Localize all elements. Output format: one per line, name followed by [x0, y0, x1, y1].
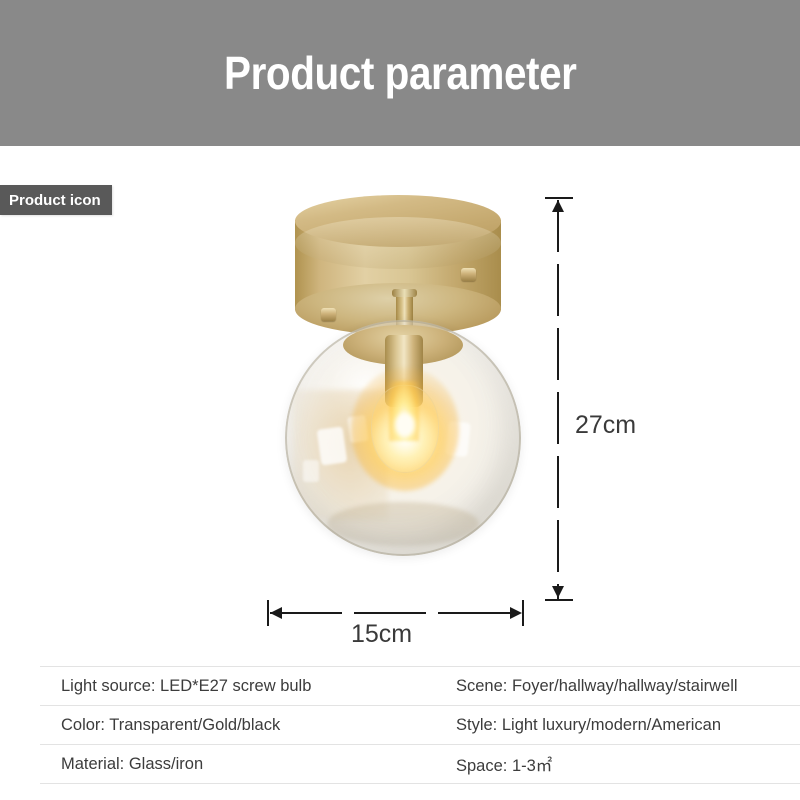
ceiling-lamp-illustration: [285, 195, 525, 650]
height-dimension-cap-top: [545, 197, 573, 199]
page-title: Product parameter: [224, 46, 576, 100]
lamp-stem-collar: [392, 289, 417, 297]
width-dimension-arrow-right: [510, 607, 522, 619]
canopy-screw-left: [321, 308, 336, 321]
spec-row: Light source: LED*E27 screw bulb Scene: …: [40, 666, 800, 705]
spec-color: Color: Transparent/Gold/black: [40, 706, 438, 744]
canopy-screw-right: [461, 268, 476, 281]
height-dimension-line: [557, 200, 559, 599]
spec-style: Style: Light luxury/modern/American: [438, 706, 800, 744]
width-dimension-cap-left: [267, 600, 269, 626]
spec-row: Color: Transparent/Gold/black Style: Lig…: [40, 705, 800, 744]
width-dimension-cap-right: [522, 600, 524, 626]
canopy-rim: [295, 217, 501, 269]
height-dimension-arrow-bottom: [552, 586, 564, 598]
width-dimension-label: 15cm: [351, 620, 412, 649]
spec-row: Material: Glass/iron Space: 1-3㎡: [40, 744, 800, 784]
bulb-filament-core: [395, 413, 415, 437]
width-dimension-line: [270, 612, 522, 614]
width-dimension-arrow-left: [270, 607, 282, 619]
height-dimension-label: 27cm: [575, 411, 636, 440]
height-dimension-arrow-top: [552, 200, 564, 212]
height-dimension-cap-bottom: [545, 599, 573, 601]
header-banner: Product parameter: [0, 0, 800, 146]
spec-table: Light source: LED*E27 screw bulb Scene: …: [40, 666, 800, 784]
spec-material: Material: Glass/iron: [40, 745, 438, 783]
spec-space: Space: 1-3㎡: [438, 745, 800, 783]
spec-scene: Scene: Foyer/hallway/hallway/stairwell: [438, 667, 800, 705]
product-image-stage: [0, 150, 800, 660]
spec-light-source: Light source: LED*E27 screw bulb: [40, 667, 438, 705]
